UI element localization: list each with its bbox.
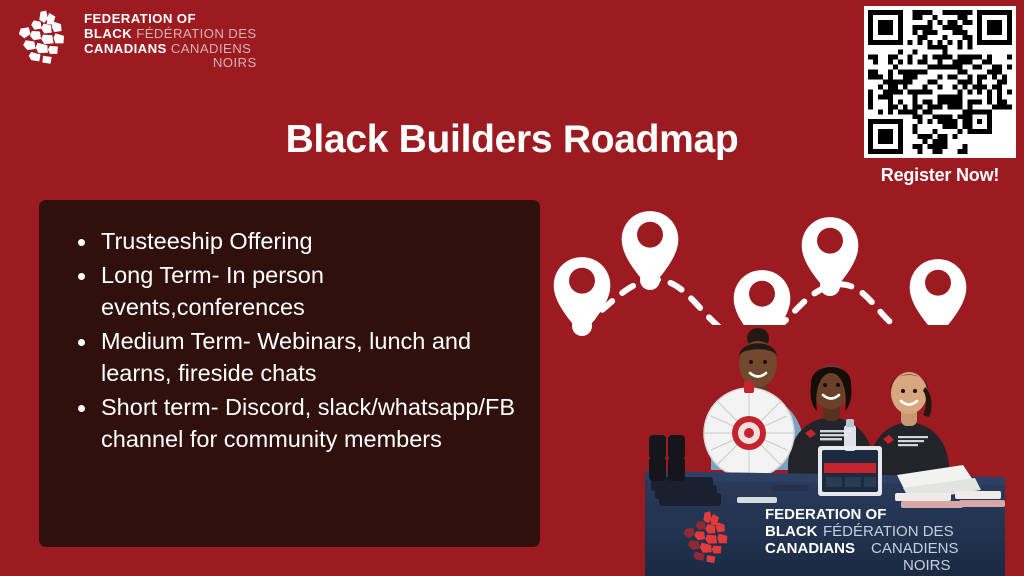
list-item: Trusteeship Offering — [99, 226, 522, 258]
map-pin-icon — [554, 257, 611, 335]
register-now-label: Register Now! — [861, 165, 1019, 186]
booth-photo-illustration: FEDERATION OF BLACK FÉDÉRATION DES CANAD… — [645, 325, 1024, 576]
fbc-maple-leaf-logo-icon — [12, 8, 74, 70]
banner-line-2-en: BLACK — [765, 523, 818, 540]
brand-wordmark-fr-3: CANADIENS — [171, 41, 252, 56]
slide-canvas: FEDERATION OF BLACK FÉDÉRATION DES CANAD… — [0, 0, 1024, 576]
list-item: Short term- Discord, slack/whatsapp/FB c… — [99, 392, 522, 456]
brand-wordmark-en-1: FEDERATION OF — [84, 11, 196, 26]
banner-line-3-en: CANADIANS — [765, 540, 855, 557]
brand-wordmark-line-2: BLACK FÉDÉRATION DES — [84, 27, 257, 42]
list-item: Medium Term- Webinars, lunch and learns,… — [99, 326, 522, 390]
qr-code-icon — [868, 10, 1012, 154]
roadmap-bullet-panel: Trusteeship Offering Long Term- In perso… — [39, 200, 540, 547]
brand-wordmark-fr-4: NOIRS — [213, 55, 257, 70]
brand-wordmark-line-4: NOIRS — [84, 56, 257, 71]
banner-line-1-en: FEDERATION OF — [765, 506, 886, 523]
banner-line-3-fr: CANADIENS — [871, 540, 959, 557]
qr-code-frame — [864, 6, 1016, 158]
brand-wordmark-en-3: CANADIANS — [84, 41, 167, 56]
banner-line-4-fr: NOIRS — [903, 557, 951, 574]
list-item: Long Term- In person events,conferences — [99, 260, 522, 324]
roadmap-bullet-list: Trusteeship Offering Long Term- In perso… — [73, 226, 522, 456]
brand-header: FEDERATION OF BLACK FÉDÉRATION DES CANAD… — [12, 8, 257, 71]
map-pin-icon — [622, 211, 679, 289]
brand-wordmark: FEDERATION OF BLACK FÉDÉRATION DES CANAD… — [84, 8, 257, 71]
register-qr-block[interactable]: Register Now! — [861, 6, 1019, 186]
brand-wordmark-line-3: CANADIANS CANADIENS — [84, 42, 257, 57]
brand-wordmark-fr-2: FÉDÉRATION DES — [136, 26, 256, 41]
booth-photo: FEDERATION OF BLACK FÉDÉRATION DES CANAD… — [645, 325, 1024, 576]
banner-line-2-fr: FÉDÉRATION DES — [823, 523, 954, 540]
brand-wordmark-en-2: BLACK — [84, 26, 132, 41]
brand-wordmark-line-1: FEDERATION OF — [84, 12, 257, 27]
